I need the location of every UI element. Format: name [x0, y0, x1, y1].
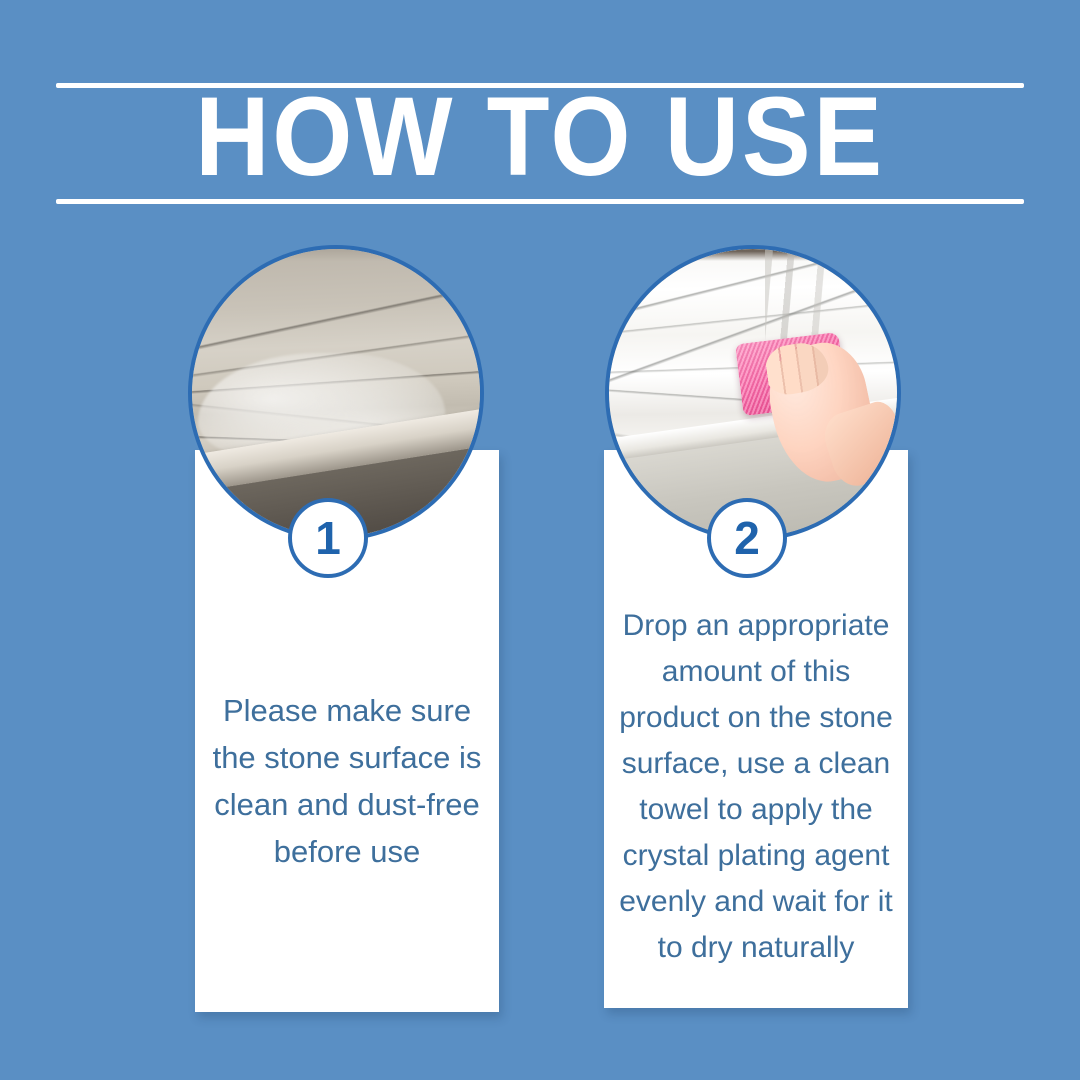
step-2-number-badge: 2 [707, 498, 787, 578]
marble-reflection-graphic [765, 249, 886, 347]
steps-container: 1 Please make sure the stone surface is … [0, 0, 1080, 1080]
step-2-number-label: 2 [734, 515, 760, 561]
how-to-use-poster: HOW TO USE 1 Please make sure the stone … [0, 0, 1080, 1080]
step-2-caption: Drop an appropriate amount of this produ… [604, 603, 908, 971]
step-1-photo-inner [192, 249, 480, 537]
step-1-number-badge: 1 [288, 498, 368, 578]
step-1-caption: Please make sure the stone surface is cl… [195, 687, 499, 875]
step-1-photo [188, 245, 484, 541]
step-1-number-label: 1 [315, 515, 341, 561]
step-2-photo-inner [609, 249, 897, 537]
step-2-photo [605, 245, 901, 541]
